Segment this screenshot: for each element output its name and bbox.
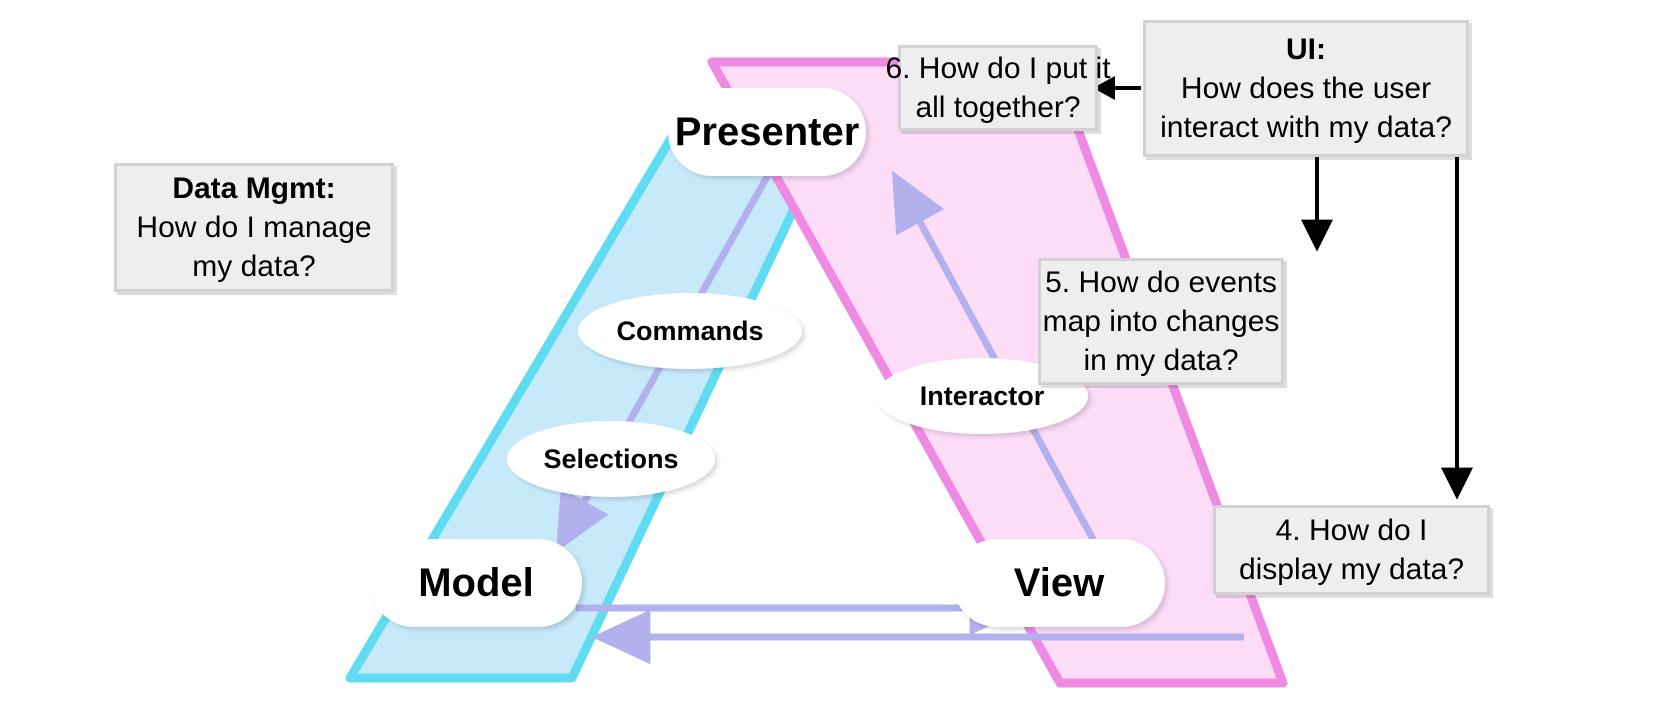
note-step-5-line-2: map into changes — [1043, 302, 1280, 341]
note-step-6-line-2: all together? — [915, 88, 1080, 127]
note-step-6-line-1: 6. How do I put it — [885, 49, 1110, 88]
note-step-4-line-2: display my data? — [1239, 550, 1464, 589]
note-data-mgmt-line-2: my data? — [192, 247, 315, 286]
note-step-4-line-1: 4. How do I — [1276, 511, 1428, 550]
note-data-mgmt-line-1: How do I manage — [136, 208, 371, 247]
note-data-mgmt-title: Data Mgmt: — [172, 169, 335, 208]
note-step-5-line-1: 5. How do events — [1045, 263, 1277, 302]
note-ui-line-2: interact with my data? — [1160, 108, 1452, 147]
selections-node-shape — [507, 421, 715, 497]
note-step-5-line-3: in my data? — [1083, 341, 1238, 380]
note-step-5: 5. How do events map into changes in my … — [1038, 258, 1284, 385]
note-step-6: 6. How do I put it all together? — [898, 45, 1098, 131]
note-ui-line-1: How does the user — [1181, 69, 1431, 108]
note-data-mgmt: Data Mgmt: How do I manage my data? — [114, 163, 394, 292]
presenter-node-shape — [668, 88, 866, 176]
note-step-4: 4. How do I display my data? — [1213, 505, 1490, 595]
note-ui-title: UI: — [1286, 30, 1326, 69]
note-ui: UI: How does the user interact with my d… — [1143, 20, 1469, 157]
model-node-shape — [370, 539, 582, 627]
commands-node-shape — [578, 293, 802, 369]
view-node-shape — [953, 539, 1165, 627]
